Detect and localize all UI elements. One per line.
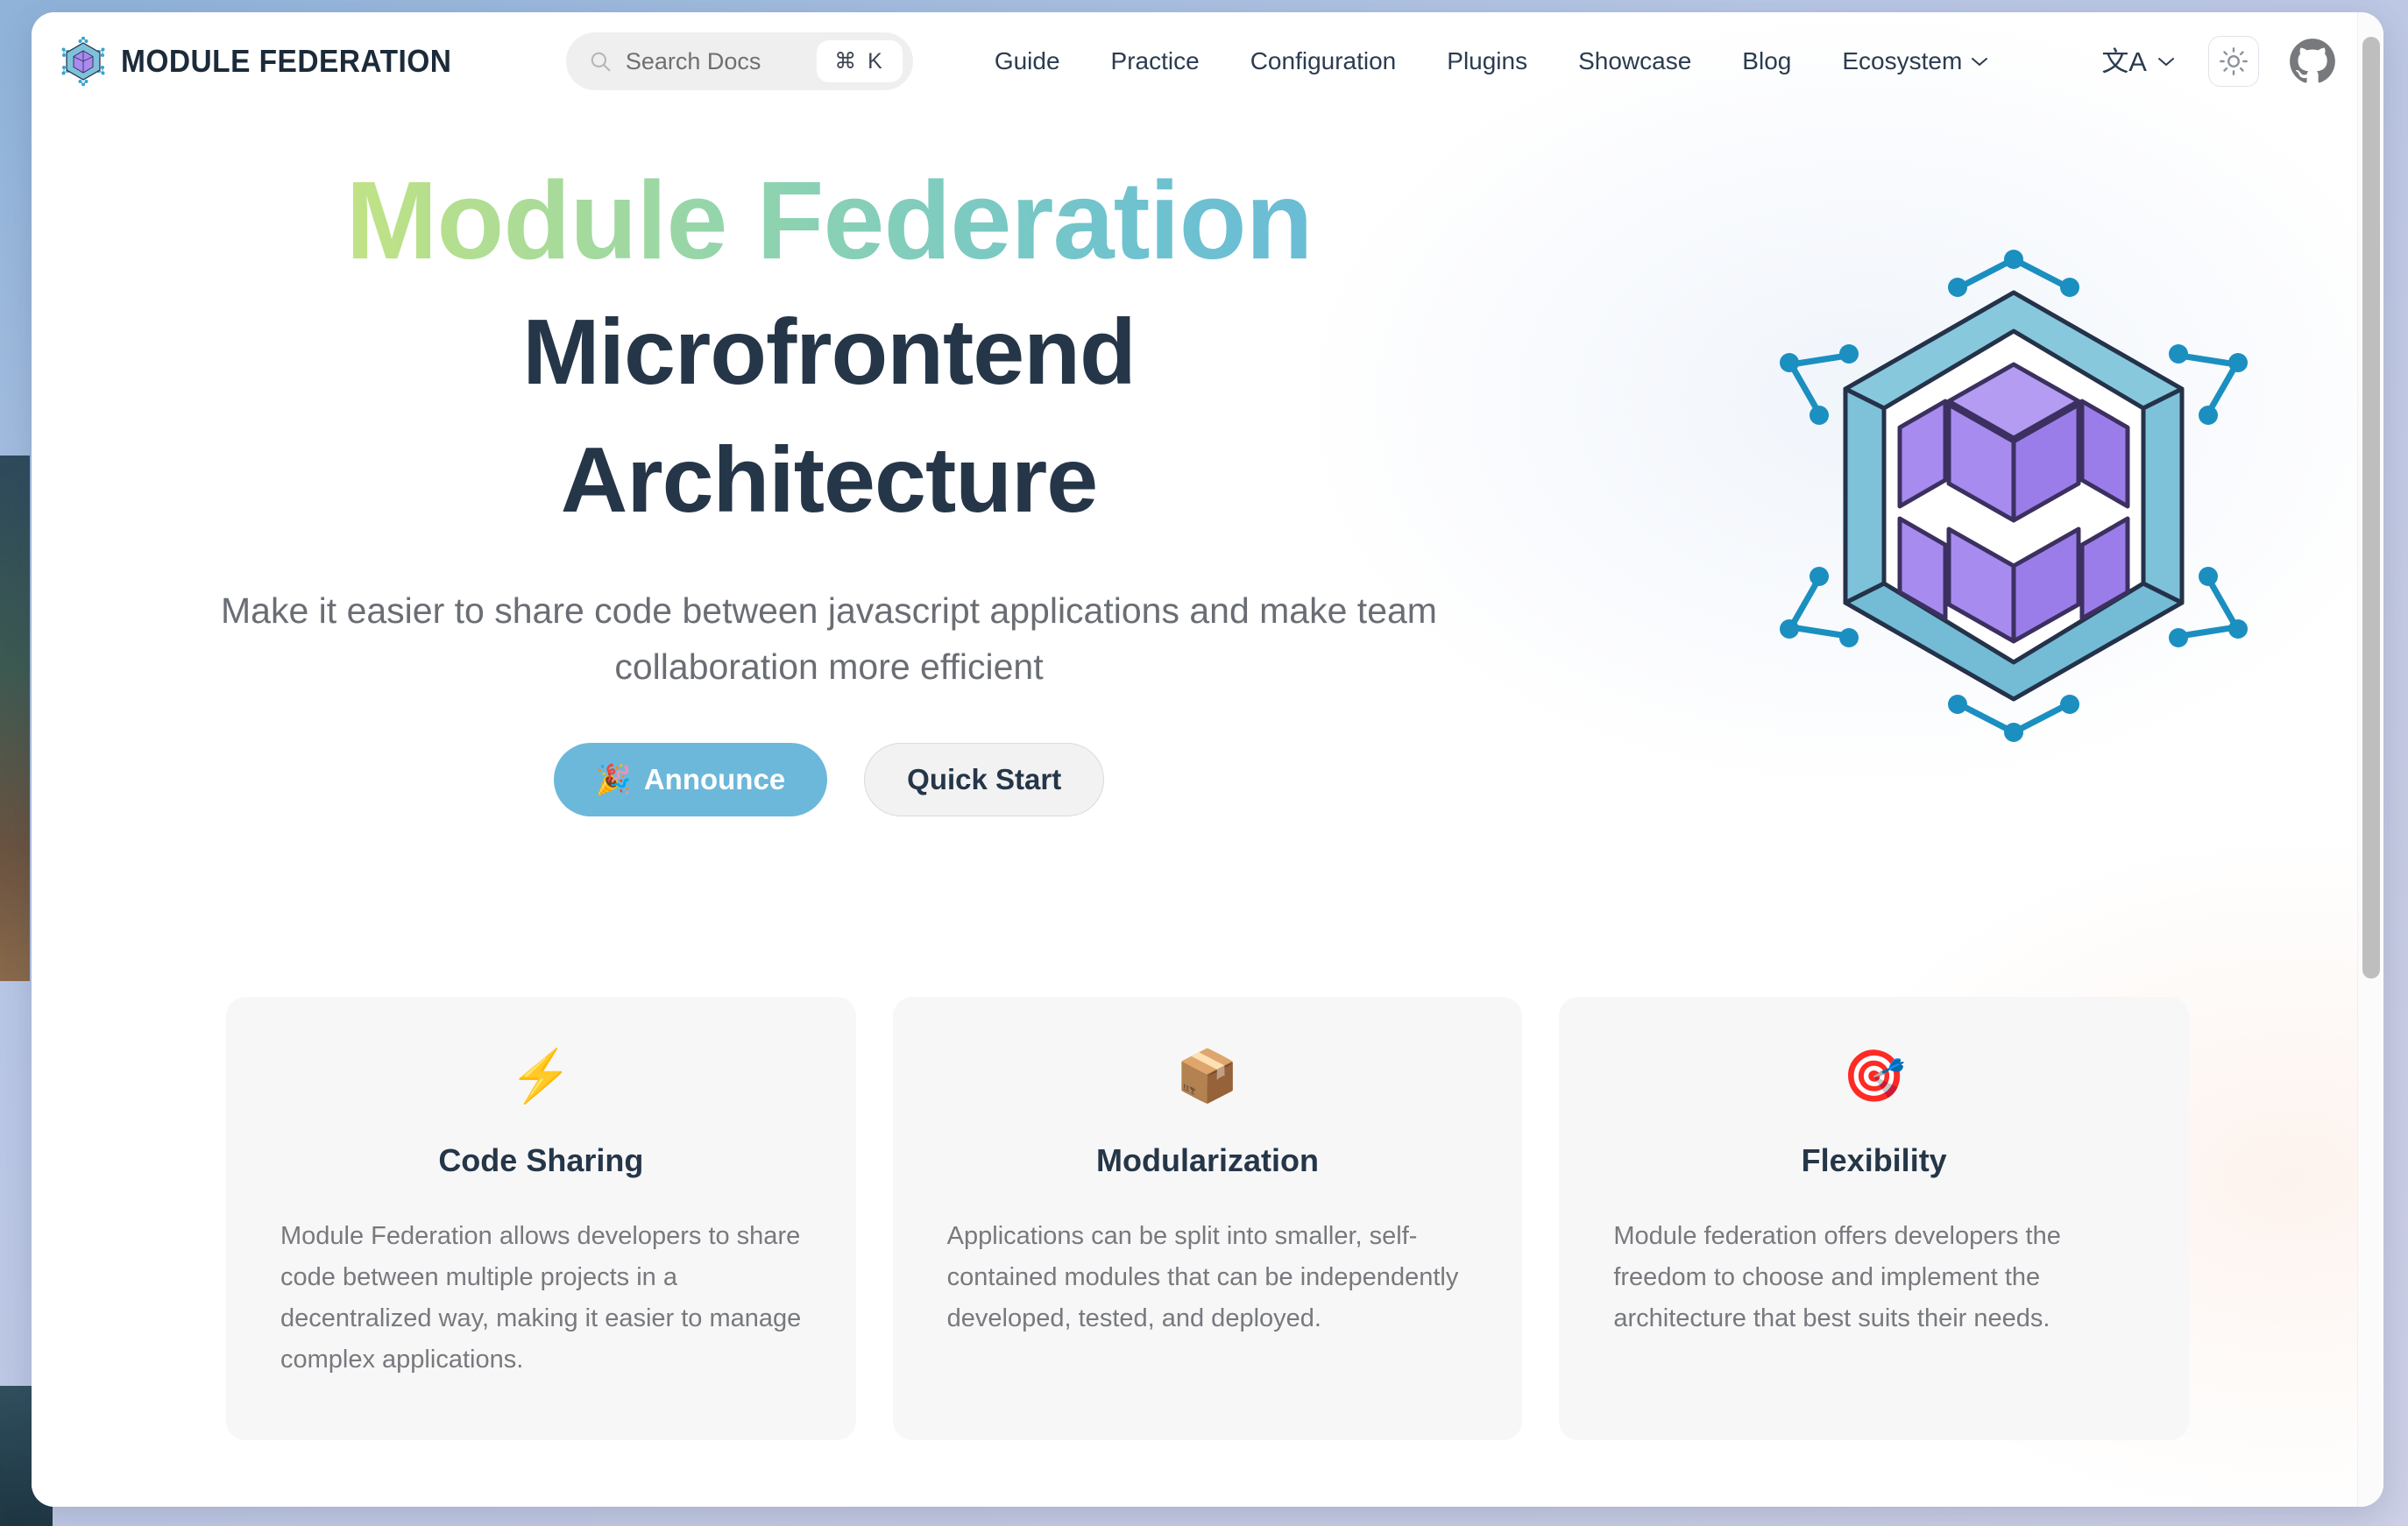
feature-card-modularization: 📦 Modularization Applications can be spl…	[893, 997, 1523, 1440]
package-box-icon: 📦	[947, 1051, 1469, 1102]
navbar: MODULE FEDERATION Search Docs ⌘ K Guide …	[32, 12, 2383, 110]
isometric-hexagon-cube-illustration	[1742, 233, 2285, 759]
feature-card-title: Flexibility	[1613, 1142, 2135, 1179]
hero-text-block: Module Federation Microfrontend Architec…	[32, 156, 1574, 986]
nav-link-label: Ecosystem	[1842, 47, 1962, 75]
hero-cta-group: 🎉 Announce Quick Start	[84, 743, 1574, 816]
feature-card-flexibility: 🎯 Flexibility Module federation offers d…	[1559, 997, 2189, 1440]
page-content: MODULE FEDERATION Search Docs ⌘ K Guide …	[32, 12, 2383, 1507]
nav-link-label: Guide	[995, 47, 1060, 75]
hero-title-line-1: Microfrontend	[84, 292, 1574, 414]
nav-link-label: Practice	[1111, 47, 1200, 75]
search-icon	[589, 50, 612, 73]
quick-start-button[interactable]: Quick Start	[864, 743, 1104, 816]
lightning-bolt-icon: ⚡	[280, 1051, 802, 1102]
party-popper-icon: 🎉	[596, 763, 632, 797]
language-selector[interactable]: 文A	[2098, 43, 2178, 81]
hero-description: Make it easier to share code between jav…	[119, 583, 1539, 696]
translate-icon: 文A	[2101, 48, 2147, 75]
nav-link-guide[interactable]: Guide	[969, 39, 1086, 84]
target-dart-icon: 🎯	[1613, 1051, 2135, 1102]
sun-icon	[2219, 46, 2249, 76]
github-icon[interactable]	[2289, 38, 2336, 85]
module-federation-hexagon-cube-logo-icon	[61, 37, 105, 86]
hero-section: Module Federation Microfrontend Architec…	[32, 110, 2383, 986]
nav-link-label: Showcase	[1578, 47, 1691, 75]
nav-link-practice[interactable]: Practice	[1086, 39, 1225, 84]
quick-start-button-label: Quick Start	[907, 763, 1061, 796]
announce-button-label: Announce	[644, 763, 785, 796]
nav-links: Guide Practice Configuration Plugins Sho…	[969, 39, 2098, 84]
brand-logo[interactable]: MODULE FEDERATION	[61, 37, 477, 86]
browser-window: MODULE FEDERATION Search Docs ⌘ K Guide …	[32, 12, 2383, 1507]
feature-card-title: Code Sharing	[280, 1142, 802, 1179]
nav-link-blog[interactable]: Blog	[1717, 39, 1817, 84]
feature-card-text: Module federation offers developers the …	[1613, 1216, 2135, 1339]
feature-card-text: Applications can be split into smaller, …	[947, 1216, 1469, 1339]
nav-link-showcase[interactable]: Showcase	[1553, 39, 1717, 84]
nav-link-label: Configuration	[1250, 47, 1397, 75]
search-input[interactable]: Search Docs ⌘ K	[566, 32, 913, 90]
feature-card-code-sharing: ⚡ Code Sharing Module Federation allows …	[226, 997, 856, 1440]
nav-link-configuration[interactable]: Configuration	[1225, 39, 1422, 84]
nav-link-plugins[interactable]: Plugins	[1421, 39, 1553, 84]
scrollbar-thumb[interactable]	[2362, 37, 2380, 978]
desktop-backdrop-left	[0, 456, 30, 981]
nav-link-label: Plugins	[1447, 47, 1527, 75]
chevron-down-icon	[2157, 56, 2175, 67]
search-shortcut-badge: ⌘ K	[817, 40, 903, 82]
hero-title-line-2: Architecture	[84, 420, 1574, 542]
nav-actions: 文A	[2098, 36, 2336, 87]
hero-gradient-title: Module Federation	[84, 156, 1574, 286]
feature-cards: ⚡ Code Sharing Module Federation allows …	[32, 997, 2383, 1440]
feature-card-title: Modularization	[947, 1142, 1469, 1179]
chevron-down-icon	[1971, 56, 1988, 67]
announce-button[interactable]: 🎉 Announce	[554, 743, 827, 816]
brand-name: MODULE FEDERATION	[121, 43, 451, 80]
nav-link-label: Blog	[1742, 47, 1791, 75]
page-scrollbar[interactable]	[2357, 12, 2383, 1507]
nav-link-ecosystem[interactable]: Ecosystem	[1817, 39, 2014, 84]
feature-card-text: Module Federation allows developers to s…	[280, 1216, 802, 1381]
theme-toggle-button[interactable]	[2208, 36, 2259, 87]
search-placeholder: Search Docs	[626, 48, 817, 75]
